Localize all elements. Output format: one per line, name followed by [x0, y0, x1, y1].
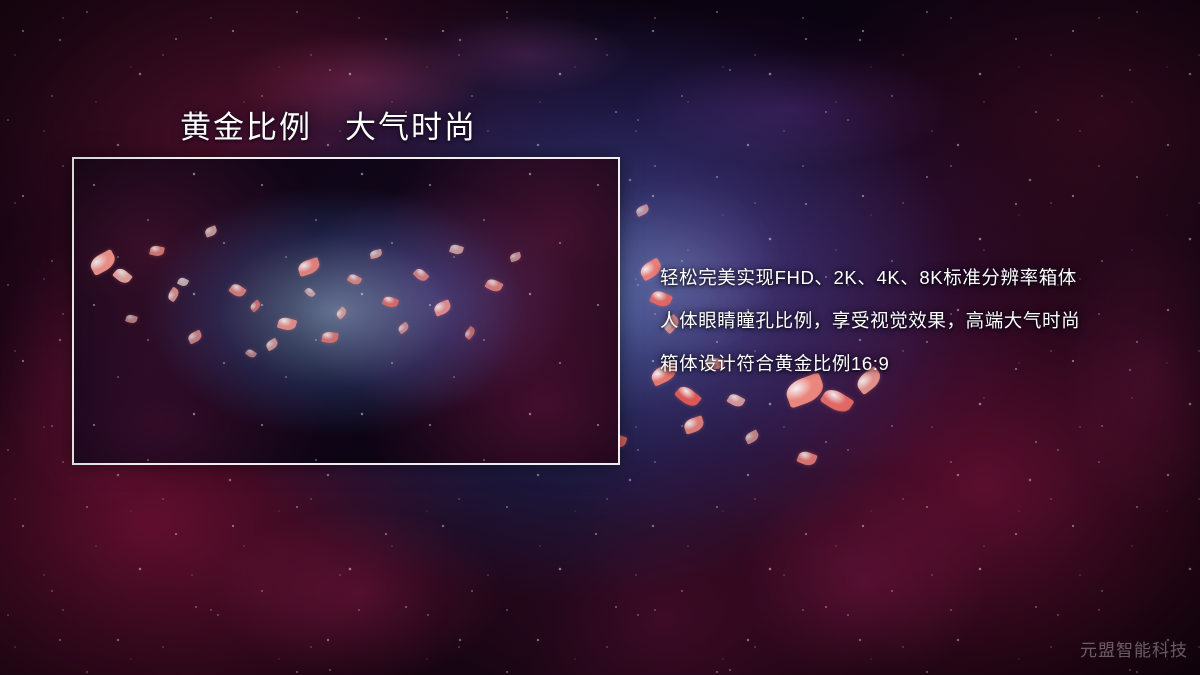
watermark-label: 元盟智能科技	[1080, 636, 1188, 661]
presentation-slide: 黄金比例 大气时尚 轻松完美实现FHD、2K、4K、8K标准分辨率箱体 人体眼睛…	[0, 0, 1200, 675]
slide-title: 黄金比例 大气时尚	[180, 102, 477, 147]
body-line-3: 箱体设计符合黄金比例16:9	[660, 342, 1180, 385]
body-line-1: 轻松完美实现FHD、2K、4K、8K标准分辨率箱体	[660, 256, 1180, 299]
nebula-image-frame	[72, 157, 620, 465]
body-text-block: 轻松完美实现FHD、2K、4K、8K标准分辨率箱体 人体眼睛瞳孔比例，享受视觉效…	[660, 256, 1180, 385]
body-line-2: 人体眼睛瞳孔比例，享受视觉效果，高端大气时尚	[660, 299, 1180, 342]
